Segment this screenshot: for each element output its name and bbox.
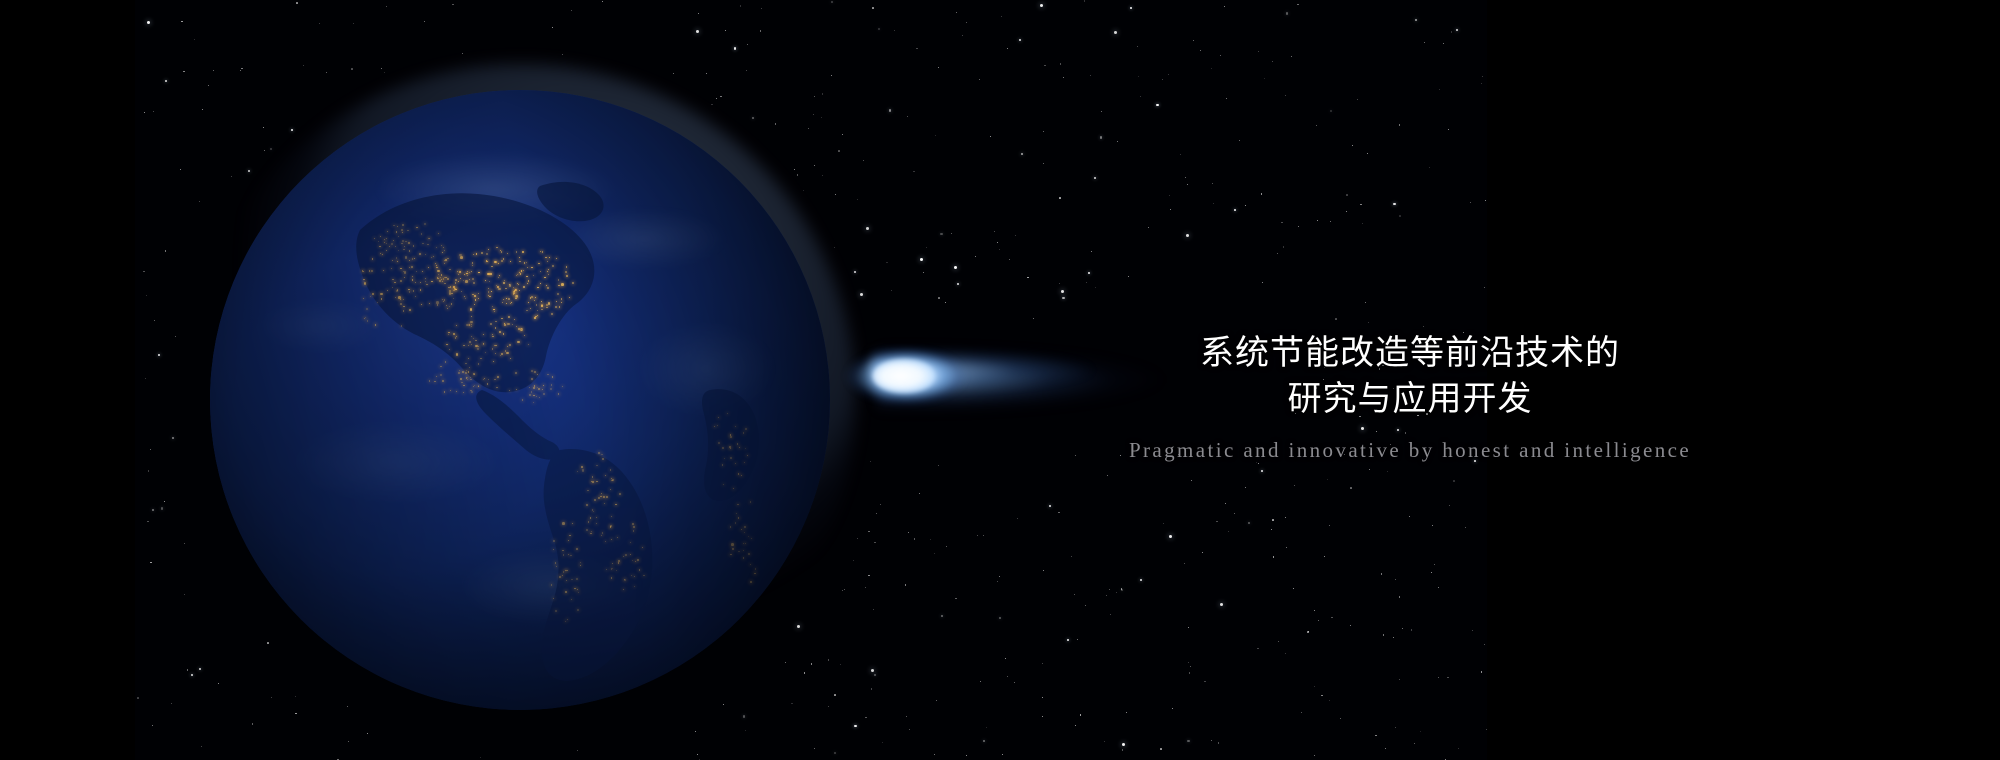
- star: [1137, 46, 1138, 47]
- star: [1042, 716, 1043, 717]
- star: [1245, 205, 1246, 206]
- earth-sphere: [210, 90, 830, 710]
- star: [1369, 469, 1370, 470]
- star: [1409, 516, 1410, 517]
- star: [1017, 518, 1018, 519]
- star: [1340, 718, 1341, 719]
- star: [1307, 631, 1309, 633]
- star: [1014, 682, 1015, 683]
- star: [1346, 194, 1348, 196]
- star: [866, 227, 869, 230]
- star: [1316, 125, 1317, 126]
- star: [183, 71, 185, 73]
- star: [870, 461, 871, 462]
- star: [1432, 525, 1433, 526]
- star: [172, 437, 174, 439]
- star: [1211, 68, 1212, 69]
- star: [1329, 700, 1331, 702]
- star: [746, 70, 747, 71]
- star: [1180, 154, 1182, 156]
- star: [865, 587, 866, 588]
- star: [1015, 235, 1017, 237]
- star: [1188, 627, 1189, 628]
- star: [1465, 527, 1466, 528]
- star: [844, 589, 845, 590]
- star: [1191, 480, 1192, 481]
- headline-line-1: 系统节能改造等前沿技术的: [1010, 330, 1810, 376]
- star: [745, 730, 746, 731]
- star: [1420, 731, 1421, 732]
- star: [1431, 572, 1432, 573]
- star: [137, 697, 139, 699]
- star: [934, 553, 935, 554]
- star: [146, 295, 147, 296]
- star: [874, 674, 876, 676]
- star: [1335, 318, 1337, 320]
- star: [201, 746, 202, 747]
- star: [905, 584, 907, 586]
- star: [1439, 89, 1440, 90]
- star: [184, 594, 185, 595]
- star: [1375, 735, 1377, 737]
- star: [1367, 153, 1368, 154]
- star: [208, 85, 209, 86]
- star: [1399, 679, 1401, 681]
- star: [926, 247, 927, 248]
- star: [880, 504, 881, 505]
- star: [1301, 712, 1302, 713]
- star: [940, 233, 942, 235]
- star: [1271, 529, 1272, 530]
- star: [480, 757, 481, 758]
- star: [1140, 96, 1141, 97]
- star: [184, 543, 185, 544]
- star: [1148, 227, 1150, 229]
- banner-text-block: 系统节能改造等前沿技术的 研究与应用开发 Pragmatic and innov…: [1010, 330, 1810, 464]
- star: [1043, 163, 1044, 164]
- star: [1286, 547, 1287, 548]
- hero-banner: 系统节能改造等前沿技术的 研究与应用开发 Pragmatic and innov…: [0, 0, 2000, 760]
- star: [1040, 4, 1043, 7]
- star: [868, 575, 870, 577]
- star: [1077, 639, 1078, 640]
- star: [871, 669, 874, 672]
- star: [1005, 658, 1006, 659]
- star: [934, 754, 935, 755]
- star: [1021, 153, 1023, 155]
- star: [886, 262, 888, 264]
- star: [1104, 741, 1106, 743]
- star: [1298, 226, 1299, 227]
- star: [158, 354, 160, 356]
- star: [938, 465, 939, 466]
- star: [1109, 589, 1110, 590]
- star: [977, 535, 979, 537]
- star: [1116, 592, 1117, 593]
- star: [854, 725, 856, 727]
- star: [814, 748, 815, 749]
- star: [552, 27, 553, 28]
- star: [153, 111, 154, 112]
- star: [857, 538, 858, 539]
- star: [1060, 63, 1062, 65]
- comet-core: [873, 359, 935, 393]
- star: [1043, 131, 1044, 132]
- star: [353, 23, 354, 24]
- star: [1220, 55, 1221, 56]
- star: [740, 5, 742, 7]
- star: [706, 73, 707, 74]
- star: [1327, 479, 1328, 480]
- star: [147, 521, 149, 523]
- star: [1213, 203, 1215, 205]
- star: [1085, 605, 1086, 606]
- star: [1399, 596, 1401, 598]
- star: [1447, 677, 1449, 679]
- star: [1190, 666, 1191, 667]
- star: [202, 109, 203, 110]
- star: [1002, 754, 1003, 755]
- star: [1185, 177, 1186, 178]
- star: [1027, 277, 1029, 279]
- star: [1286, 12, 1288, 14]
- star: [386, 6, 387, 7]
- star: [319, 23, 320, 24]
- star: [1387, 471, 1388, 472]
- star: [1451, 31, 1453, 33]
- star: [1331, 617, 1333, 619]
- star: [1061, 290, 1064, 293]
- star: [1121, 588, 1123, 590]
- star: [1126, 712, 1127, 713]
- star: [1291, 56, 1292, 57]
- star: [1007, 676, 1008, 677]
- star: [916, 48, 918, 50]
- star: [997, 581, 998, 582]
- star: [241, 68, 243, 70]
- star: [296, 2, 298, 4]
- star: [997, 242, 998, 243]
- star: [1438, 587, 1439, 588]
- star: [1187, 184, 1189, 186]
- star: [191, 674, 193, 676]
- star: [295, 713, 297, 715]
- star: [326, 72, 327, 73]
- star: [1228, 531, 1229, 532]
- star: [1402, 628, 1403, 629]
- star: [1261, 470, 1263, 472]
- star: [1415, 19, 1417, 21]
- star: [602, 1, 603, 2]
- star: [1385, 748, 1387, 750]
- star: [954, 266, 957, 269]
- star: [938, 297, 940, 299]
- star: [1106, 595, 1107, 596]
- star: [171, 703, 172, 704]
- star: [835, 194, 836, 195]
- star: [747, 44, 748, 45]
- star: [1365, 302, 1367, 304]
- star: [1285, 517, 1286, 518]
- star: [1424, 42, 1425, 43]
- star: [889, 109, 891, 111]
- star: [1456, 29, 1458, 31]
- star: [909, 729, 910, 730]
- star: [831, 1, 833, 3]
- star: [1453, 480, 1455, 482]
- star: [1140, 579, 1142, 581]
- star: [562, 54, 563, 55]
- star: [1350, 625, 1351, 626]
- star: [1094, 177, 1096, 179]
- star: [150, 562, 152, 564]
- star: [1423, 326, 1424, 327]
- star: [1122, 749, 1124, 751]
- star: [840, 664, 841, 665]
- star: [1261, 193, 1263, 195]
- star: [1058, 512, 1060, 514]
- star: [906, 716, 907, 717]
- star: [1067, 639, 1069, 641]
- star: [351, 68, 353, 70]
- star: [1352, 145, 1353, 146]
- star: [865, 717, 867, 719]
- star: [1063, 77, 1064, 78]
- star: [1399, 124, 1401, 126]
- star: [1019, 39, 1021, 41]
- star: [1308, 631, 1309, 632]
- star: [872, 7, 874, 9]
- star: [1346, 211, 1347, 212]
- star: [164, 501, 165, 502]
- star: [1084, 0, 1086, 2]
- star: [1130, 7, 1132, 9]
- star: [697, 754, 698, 755]
- comet-head-glow: [843, 337, 993, 415]
- star: [1368, 322, 1369, 323]
- star: [907, 116, 908, 117]
- star: [878, 28, 880, 30]
- star: [1411, 629, 1413, 631]
- star: [834, 694, 836, 696]
- star: [975, 256, 976, 257]
- star: [743, 715, 745, 717]
- star: [761, 8, 762, 9]
- star: [1472, 630, 1473, 631]
- star: [1204, 681, 1206, 683]
- star: [1114, 31, 1117, 34]
- star: [1324, 556, 1325, 557]
- star: [1156, 104, 1158, 106]
- star: [930, 539, 931, 540]
- star: [1362, 223, 1363, 224]
- star: [838, 150, 840, 152]
- star: [999, 617, 1001, 619]
- star: [1086, 282, 1087, 283]
- star: [834, 752, 836, 754]
- star: [1330, 110, 1332, 112]
- star: [1248, 522, 1250, 524]
- star: [1095, 287, 1097, 289]
- star: [1484, 287, 1485, 288]
- star: [1216, 521, 1218, 523]
- star: [1224, 6, 1225, 7]
- star: [980, 681, 981, 682]
- star: [894, 30, 895, 31]
- star: [213, 70, 214, 71]
- star: [1200, 50, 1201, 51]
- star: [1381, 573, 1383, 575]
- star: [1160, 748, 1162, 750]
- star: [919, 493, 920, 494]
- star: [994, 231, 995, 232]
- star: [1128, 276, 1129, 277]
- star: [831, 75, 832, 76]
- star: [673, 73, 674, 74]
- star: [348, 741, 349, 742]
- star: [876, 513, 877, 514]
- star: [1272, 61, 1273, 62]
- star: [1193, 40, 1194, 41]
- star: [1414, 743, 1415, 744]
- star: [1258, 51, 1259, 52]
- star: [144, 112, 145, 113]
- star: [1458, 748, 1459, 749]
- star: [1257, 648, 1259, 650]
- star: [1293, 588, 1294, 589]
- star: [908, 532, 909, 533]
- star: [1101, 111, 1102, 112]
- star: [1278, 641, 1279, 642]
- star: [698, 13, 699, 14]
- star: [147, 21, 150, 24]
- earth-limb-highlight: [210, 90, 830, 710]
- star: [923, 272, 924, 273]
- star: [936, 700, 937, 701]
- star: [577, 750, 578, 751]
- star: [1033, 318, 1034, 319]
- star: [951, 233, 952, 234]
- star: [1262, 282, 1263, 283]
- star: [1234, 513, 1235, 514]
- star: [1314, 686, 1315, 687]
- star: [1482, 76, 1483, 77]
- star: [145, 378, 146, 379]
- star: [1049, 505, 1051, 507]
- star: [1399, 215, 1401, 217]
- star: [1163, 523, 1164, 524]
- star: [1245, 487, 1246, 488]
- star: [962, 35, 963, 36]
- star: [1383, 634, 1385, 636]
- star: [1330, 221, 1331, 222]
- star: [842, 134, 843, 135]
- star: [874, 542, 876, 544]
- star: [1059, 283, 1060, 284]
- star: [252, 723, 254, 725]
- star: [1360, 204, 1362, 206]
- star: [871, 688, 873, 690]
- star: [1429, 167, 1430, 168]
- star: [725, 30, 726, 31]
- star: [462, 53, 463, 54]
- star: [1234, 209, 1236, 211]
- star: [760, 30, 762, 32]
- star: [834, 247, 835, 248]
- star: [1434, 564, 1435, 565]
- star: [999, 576, 1000, 577]
- star: [979, 79, 981, 81]
- star: [891, 290, 892, 291]
- star: [1074, 594, 1075, 595]
- star: [1297, 4, 1299, 6]
- star: [853, 560, 854, 561]
- star: [957, 283, 959, 285]
- star: [452, 4, 454, 6]
- star: [1481, 83, 1482, 84]
- star: [1212, 183, 1214, 185]
- star: [1162, 79, 1164, 81]
- star: [1202, 552, 1204, 554]
- star: [1169, 535, 1172, 538]
- star: [143, 271, 145, 273]
- star: [1044, 65, 1046, 67]
- star: [1211, 740, 1213, 742]
- star: [1075, 725, 1076, 726]
- star: [854, 271, 856, 273]
- star: [1186, 234, 1189, 237]
- star: [384, 72, 385, 73]
- earth-globe: [210, 90, 830, 710]
- star: [381, 68, 382, 69]
- star: [1329, 525, 1330, 526]
- star: [180, 169, 181, 170]
- star: [240, 70, 241, 71]
- star: [1088, 272, 1090, 274]
- star: [990, 136, 991, 137]
- star: [983, 740, 985, 742]
- star: [1449, 505, 1450, 506]
- star: [154, 320, 155, 321]
- star: [1138, 76, 1139, 77]
- star: [1272, 519, 1274, 521]
- star: [175, 336, 176, 337]
- star: [1281, 222, 1283, 224]
- star: [150, 449, 151, 450]
- star: [1001, 16, 1002, 17]
- star: [1285, 653, 1286, 654]
- star: [303, 65, 305, 67]
- star: [1091, 251, 1092, 252]
- star: [152, 509, 154, 511]
- star: [1042, 663, 1044, 665]
- star: [1121, 589, 1123, 591]
- star: [1277, 253, 1278, 254]
- star: [920, 258, 923, 261]
- star: [181, 21, 183, 23]
- star: [1438, 677, 1439, 678]
- star: [1043, 570, 1044, 571]
- star: [1188, 662, 1189, 663]
- headline-line-2: 研究与应用开发: [1010, 376, 1810, 422]
- star: [1285, 95, 1287, 97]
- star: [148, 470, 150, 472]
- star: [1172, 708, 1173, 709]
- star: [165, 250, 167, 252]
- star: [1239, 140, 1240, 141]
- star: [882, 742, 883, 743]
- star: [983, 535, 984, 536]
